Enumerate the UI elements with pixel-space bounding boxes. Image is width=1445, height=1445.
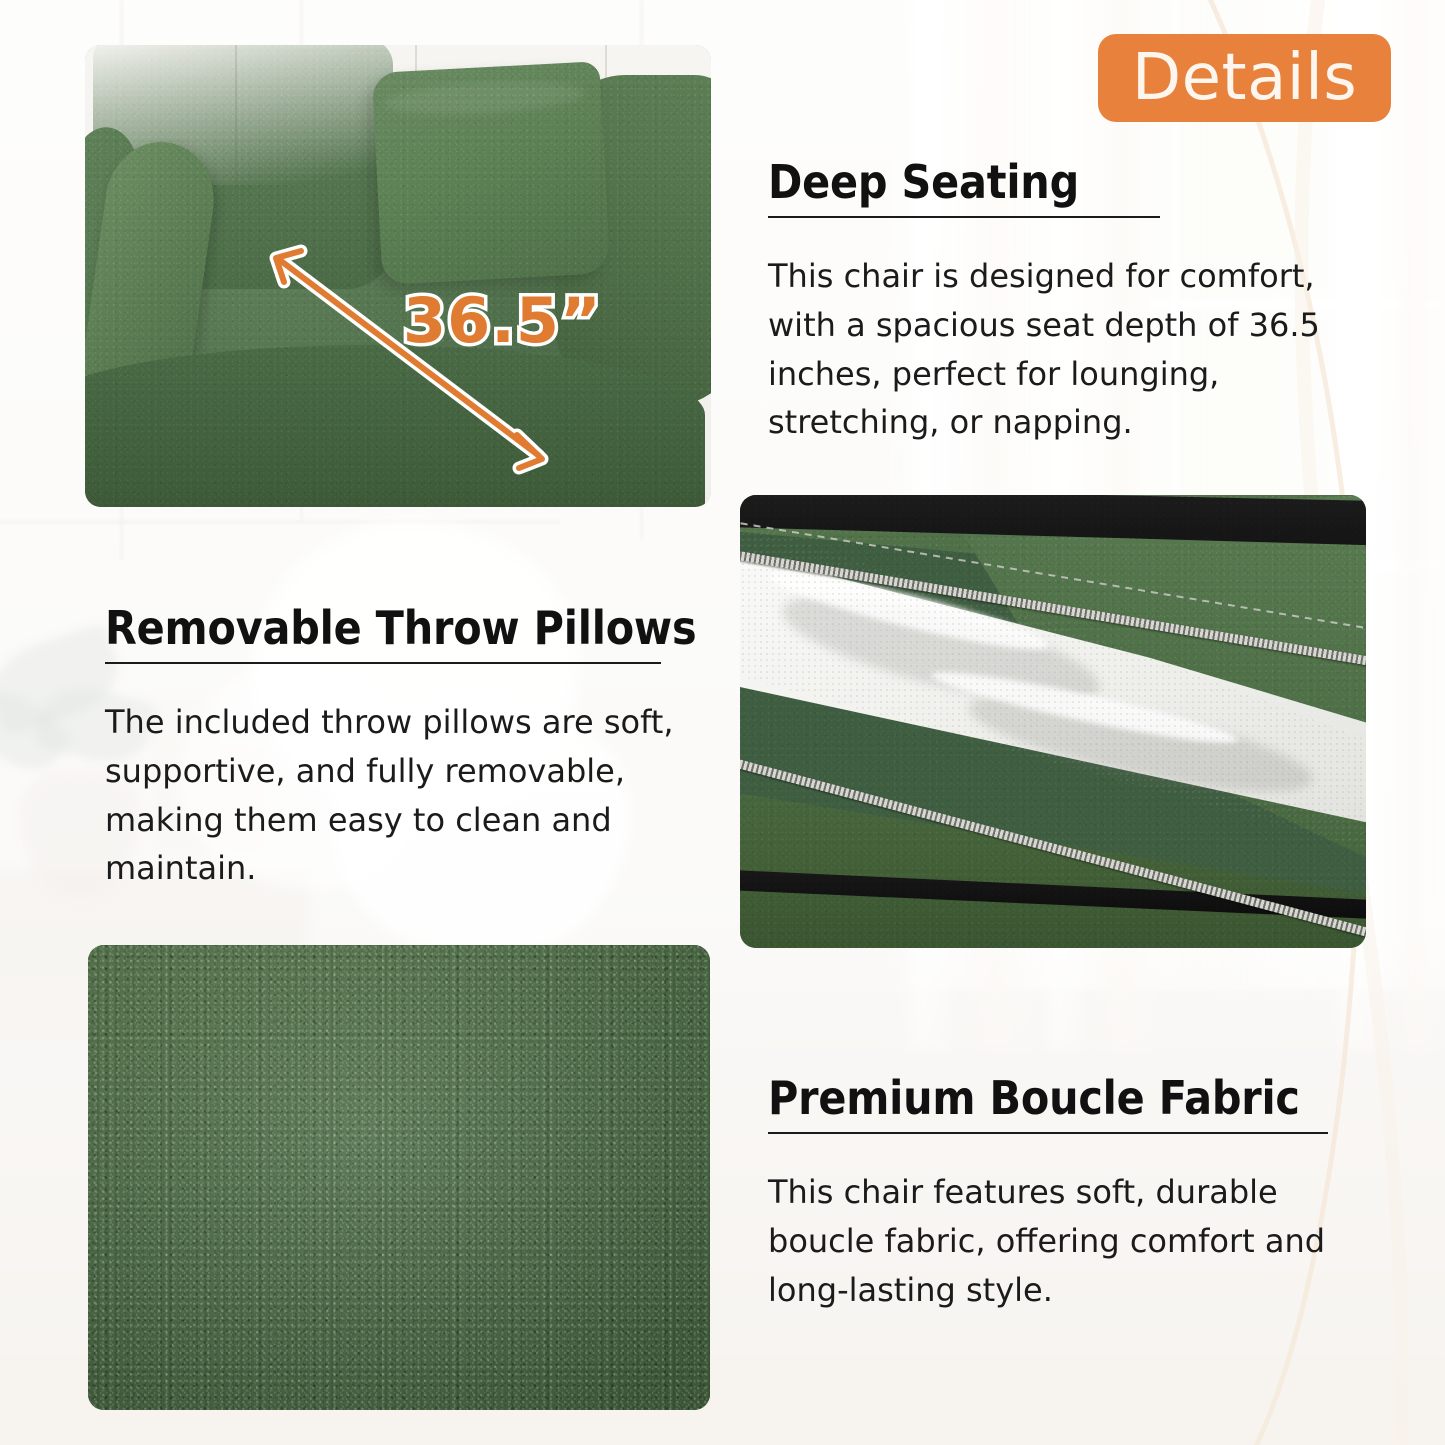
deep-seating-photo: 36.5” bbox=[85, 45, 711, 507]
heading-underline bbox=[768, 216, 1160, 218]
heading-underline bbox=[105, 662, 661, 664]
zipper-detail-photo bbox=[740, 495, 1366, 948]
removable-throw-pillows-body: The included throw pillows are soft, sup… bbox=[105, 698, 705, 893]
premium-boucle-fabric-heading: Premium Boucle Fabric bbox=[768, 1074, 1368, 1122]
deep-seating-text-block: Deep Seating This chair is designed for … bbox=[768, 158, 1368, 447]
deep-seating-heading: Deep Seating bbox=[768, 158, 1368, 206]
details-badge-label: Details bbox=[1132, 46, 1357, 110]
heading-underline bbox=[768, 1132, 1328, 1134]
removable-throw-pillows-heading: Removable Throw Pillows bbox=[105, 604, 705, 652]
details-badge: Details bbox=[1098, 34, 1391, 122]
details-infographic: Details bbox=[0, 0, 1445, 1445]
premium-boucle-fabric-text-block: Premium Boucle Fabric This chair feature… bbox=[768, 1074, 1368, 1314]
boucle-fabric-photo bbox=[88, 945, 710, 1410]
premium-boucle-fabric-body: This chair features soft, durable boucle… bbox=[768, 1168, 1368, 1314]
dimension-label: 36.5” bbox=[403, 290, 602, 352]
deep-seating-body: This chair is designed for comfort, with… bbox=[768, 252, 1368, 447]
removable-throw-pillows-text-block: Removable Throw Pillows The included thr… bbox=[105, 604, 705, 893]
double-arrow-icon bbox=[85, 45, 711, 507]
fabric-sheen bbox=[88, 945, 710, 1410]
